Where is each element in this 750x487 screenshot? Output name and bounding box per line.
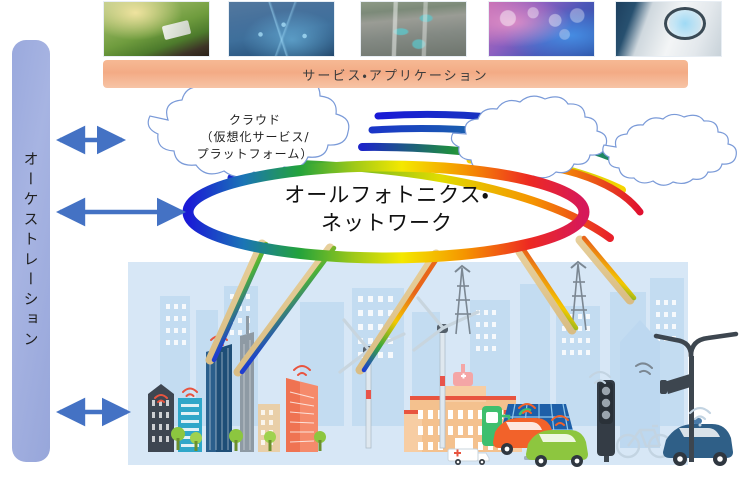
smart-factory-photo bbox=[228, 1, 335, 57]
diagram-canvas: サービス・アプリケーション オーケストレーション bbox=[0, 0, 750, 487]
agriculture-photo bbox=[103, 1, 210, 57]
healthcare-photo-image bbox=[616, 2, 721, 56]
healthcare-photo bbox=[615, 1, 722, 57]
agriculture-photo-image bbox=[104, 2, 209, 56]
orchestration-label: オーケストレーション bbox=[21, 151, 42, 351]
cloud-tertiary bbox=[603, 114, 737, 185]
service-application-banner: サービス・アプリケーション bbox=[103, 60, 688, 88]
smart-factory-photo-image bbox=[229, 2, 334, 56]
connected-vehicles-photo bbox=[360, 1, 467, 57]
connected-vehicles-photo-image bbox=[361, 2, 466, 56]
all-photonics-network-ring bbox=[188, 166, 584, 258]
smart-city-photo bbox=[488, 1, 595, 57]
orchestration-panel: オーケストレーション bbox=[12, 40, 50, 462]
smart-city-photo-image bbox=[489, 2, 594, 56]
orchestration-arrows bbox=[60, 140, 182, 412]
service-application-label: サービス・アプリケーション bbox=[302, 65, 488, 84]
photo-strip bbox=[0, 0, 750, 58]
